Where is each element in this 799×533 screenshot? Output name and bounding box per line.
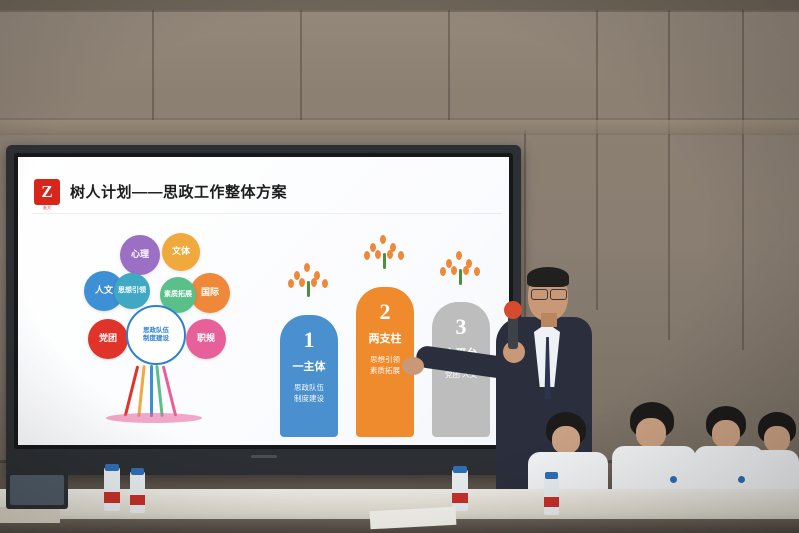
podium-sub-1: 思政队伍 制度建设: [294, 382, 324, 405]
stem-line: [162, 365, 177, 416]
water-bottle-4[interactable]: [544, 475, 559, 515]
water-bottle-label: [544, 497, 559, 507]
presenter-hair: [527, 267, 569, 287]
tree-leaf: [375, 250, 381, 259]
tree-icon-1: [286, 257, 332, 297]
bubble-label: 素质拓展: [164, 291, 192, 298]
bubble-label: 党团: [99, 334, 117, 343]
display-brand-mark: [251, 455, 277, 458]
tree-leaf: [364, 251, 370, 260]
tree-leaf: [299, 278, 305, 287]
center-label-line2: 制度建设: [143, 335, 169, 343]
water-bottle-label: [130, 495, 145, 505]
water-bottle-cap: [545, 472, 558, 479]
photo-scene: Z 浙大 树人计划——思政工作整体方案 心理: [0, 0, 799, 533]
attendee-face: [552, 426, 580, 454]
wall-panel-line: [152, 10, 154, 120]
podium-sub-line: 制度建设: [294, 393, 324, 404]
stem-line: [137, 365, 145, 417]
bubble-sixiangyinling: 思想引领: [114, 273, 150, 309]
attendee-face: [636, 418, 666, 448]
title-divider: [32, 213, 502, 214]
attendee-face: [764, 426, 790, 452]
wall-panel-line: [448, 10, 450, 120]
bubble-center-core: 思政队伍 制度建设: [126, 305, 186, 365]
bubble-label: 思想引领: [118, 287, 146, 294]
bubble-dangtuan: 党团: [88, 319, 128, 359]
water-bottle-label: [104, 492, 120, 503]
water-bottle-2[interactable]: [130, 471, 145, 513]
wall-panel-line: [742, 10, 744, 350]
organization-logo-subtext: 浙大: [34, 205, 60, 211]
attendee-badge: [738, 476, 745, 483]
stem-line: [124, 365, 139, 416]
water-bottle-1[interactable]: [104, 467, 120, 511]
slide-title: 树人计划——思政工作整体方案: [70, 181, 287, 202]
tree-leaf: [387, 250, 393, 259]
bubble-guoji: 国际: [190, 273, 230, 313]
bubble-label: 国际: [201, 288, 219, 297]
podium-heading-2: 两支柱: [369, 333, 402, 346]
organization-logo: Z: [34, 179, 60, 205]
tree-leaf: [288, 279, 294, 288]
bubble-label: 职规: [197, 334, 215, 343]
attendee-badge: [670, 476, 677, 483]
water-bottle-cap: [453, 466, 467, 473]
attendee-face: [712, 420, 740, 448]
presenter-pointing-arm: [415, 345, 509, 380]
podium-number-1: 1: [304, 329, 315, 351]
bubble-xinli: 心理: [120, 235, 160, 275]
center-label-line1: 思政队伍: [143, 327, 169, 335]
water-bottle-label: [452, 493, 468, 503]
wall-trim: [0, 120, 799, 134]
tree-leaf: [380, 235, 386, 244]
presenter-pointing-hand: [402, 357, 424, 375]
presenter-glasses: [531, 289, 548, 300]
podium-sub-2: 思想引领 素质拓展: [370, 354, 400, 377]
water-bottle-3[interactable]: [452, 469, 468, 511]
podium-body-1: 1 一主体 思政队伍 制度建设: [280, 315, 338, 437]
tree-leaf: [311, 278, 317, 287]
podium-sub-line: 素质拓展: [370, 365, 400, 376]
tree-leaf: [304, 263, 310, 272]
bubble-label: 心理: [131, 250, 149, 259]
tree-trunk: [307, 281, 310, 297]
stem-line: [150, 365, 153, 417]
bubble-zhigui: 职规: [186, 319, 226, 359]
wall-seam: [0, 10, 799, 12]
microphone-head: [504, 301, 522, 319]
podium-sub-line: 思政队伍: [294, 382, 324, 393]
wall-panel-line: [300, 10, 302, 120]
bubble-label: 人文: [95, 286, 113, 295]
podium-sub-line: 思想引领: [370, 354, 400, 365]
water-bottle-cap: [131, 468, 144, 475]
podium-number-2: 2: [380, 301, 391, 323]
diagram-base: [106, 413, 202, 423]
water-bottle-cap: [105, 464, 119, 471]
presenter-glasses: [550, 289, 567, 300]
tree-leaf: [322, 279, 328, 288]
ceiling-edge: [0, 0, 799, 10]
podium-column-1: 1 一主体 思政队伍 制度建设: [280, 307, 338, 437]
bubble-wenti: 文体: [162, 233, 200, 271]
tree-trunk: [383, 253, 386, 269]
podium-heading-1: 一主体: [293, 361, 326, 374]
document-papers[interactable]: [0, 507, 60, 523]
presenter-neck: [541, 313, 557, 327]
wall-panel-line: [668, 10, 670, 340]
bubble-diagram: 心理 文体 人文 国际 党团: [58, 227, 258, 427]
bubble-label: 文体: [172, 247, 190, 256]
laptop-screen: [10, 475, 64, 505]
microphone-body[interactable]: [508, 315, 518, 349]
